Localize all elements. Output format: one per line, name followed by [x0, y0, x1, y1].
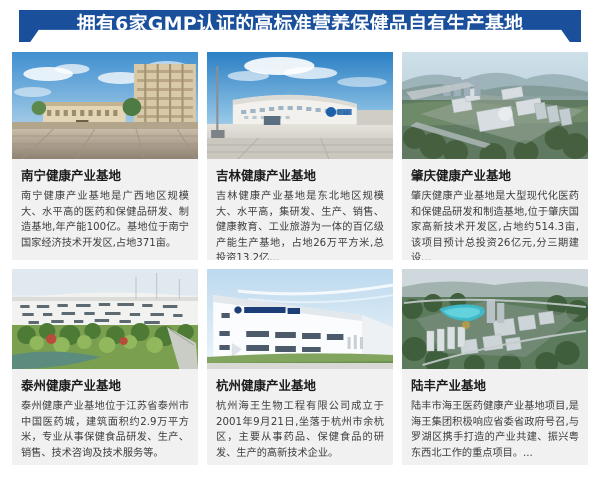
hangzhou-base-illustration	[207, 269, 393, 369]
card-description: 陆丰市海王医药健康产业基地项目,是海王集团积极响应省委省政府号召,与罗湖区携手打…	[411, 399, 579, 461]
card-description: 杭州海王生物工程有限公司成立于2001年9月21日,坐落于杭州市余杭区，主要从事…	[216, 399, 384, 461]
card-body: 泰州健康产业基地 泰州健康产业基地位于江苏省泰州市中国医药城，建筑面积约2.9万…	[12, 369, 198, 465]
card-title: 泰州健康产业基地	[21, 378, 189, 393]
jilin-base-illustration	[207, 52, 393, 159]
card-body: 南宁健康产业基地 南宁健康产业基地是广西地区规模大、水平高的医药和保健品研发、制…	[12, 159, 198, 260]
nanning-base-photo	[12, 52, 198, 159]
base-card[interactable]: 南宁健康产业基地 南宁健康产业基地是广西地区规模大、水平高的医药和保健品研发、制…	[12, 52, 198, 260]
card-body: 吉林健康产业基地 吉林健康产业基地是东北地区规模大、水平高，集研发、生产、销售、…	[207, 159, 393, 260]
nanning-base-illustration	[12, 52, 198, 159]
card-title: 南宁健康产业基地	[21, 168, 189, 183]
zhaoqing-base-photo	[402, 52, 588, 159]
card-description: 吉林健康产业基地是东北地区规模大、水平高，集研发、生产、销售、健康教育、工业旅游…	[216, 189, 384, 260]
base-card[interactable]: 陆丰产业基地 陆丰市海王医药健康产业基地项目,是海王集团积极响应省委省政府号召,…	[402, 269, 588, 465]
base-card[interactable]: 杭州健康产业基地 杭州海王生物工程有限公司成立于2001年9月21日,坐落于杭州…	[207, 269, 393, 465]
card-title: 吉林健康产业基地	[216, 168, 384, 183]
card-title: 杭州健康产业基地	[216, 378, 384, 393]
card-body: 杭州健康产业基地 杭州海王生物工程有限公司成立于2001年9月21日,坐落于杭州…	[207, 369, 393, 465]
jilin-base-photo	[207, 52, 393, 159]
card-description: 泰州健康产业基地位于江苏省泰州市中国医药城，建筑面积约2.9万平方米，专业从事保…	[21, 399, 189, 461]
card-title: 肇庆健康产业基地	[411, 168, 579, 183]
card-body: 肇庆健康产业基地 肇庆健康产业基地是大型现代化医药和保健品研发和制造基地,位于肇…	[402, 159, 588, 260]
header-banner: 拥有6家GMP认证的高标准营养保健品自有生产基地	[19, 10, 581, 42]
card-description: 肇庆健康产业基地是大型现代化医药和保健品研发和制造基地,位于肇庆国家高新技术开发…	[411, 189, 579, 260]
lufeng-base-illustration	[402, 269, 588, 369]
base-card[interactable]: 吉林健康产业基地 吉林健康产业基地是东北地区规模大、水平高，集研发、生产、销售、…	[207, 52, 393, 260]
card-description: 南宁健康产业基地是广西地区规模大、水平高的医药和保健品研发、制造基地,年产能10…	[21, 189, 189, 251]
base-card[interactable]: 肇庆健康产业基地 肇庆健康产业基地是大型现代化医药和保健品研发和制造基地,位于肇…	[402, 52, 588, 260]
lufeng-base-photo	[402, 269, 588, 369]
base-card-grid-row-1: 南宁健康产业基地 南宁健康产业基地是广西地区规模大、水平高的医药和保健品研发、制…	[0, 52, 600, 260]
taizhou-base-illustration	[12, 269, 198, 369]
card-body: 陆丰产业基地 陆丰市海王医药健康产业基地项目,是海王集团积极响应省委省政府号召,…	[402, 369, 588, 465]
page-title: 拥有6家GMP认证的高标准营养保健品自有生产基地	[77, 15, 523, 37]
header-banner-wrapper: 拥有6家GMP认证的高标准营养保健品自有生产基地	[0, 0, 600, 52]
card-title: 陆丰产业基地	[411, 378, 579, 393]
zhaoqing-base-illustration	[402, 52, 588, 159]
hangzhou-base-photo	[207, 269, 393, 369]
base-card-grid-row-2: 泰州健康产业基地 泰州健康产业基地位于江苏省泰州市中国医药城，建筑面积约2.9万…	[0, 269, 600, 465]
taizhou-base-photo	[12, 269, 198, 369]
base-card[interactable]: 泰州健康产业基地 泰州健康产业基地位于江苏省泰州市中国医药城，建筑面积约2.9万…	[12, 269, 198, 465]
